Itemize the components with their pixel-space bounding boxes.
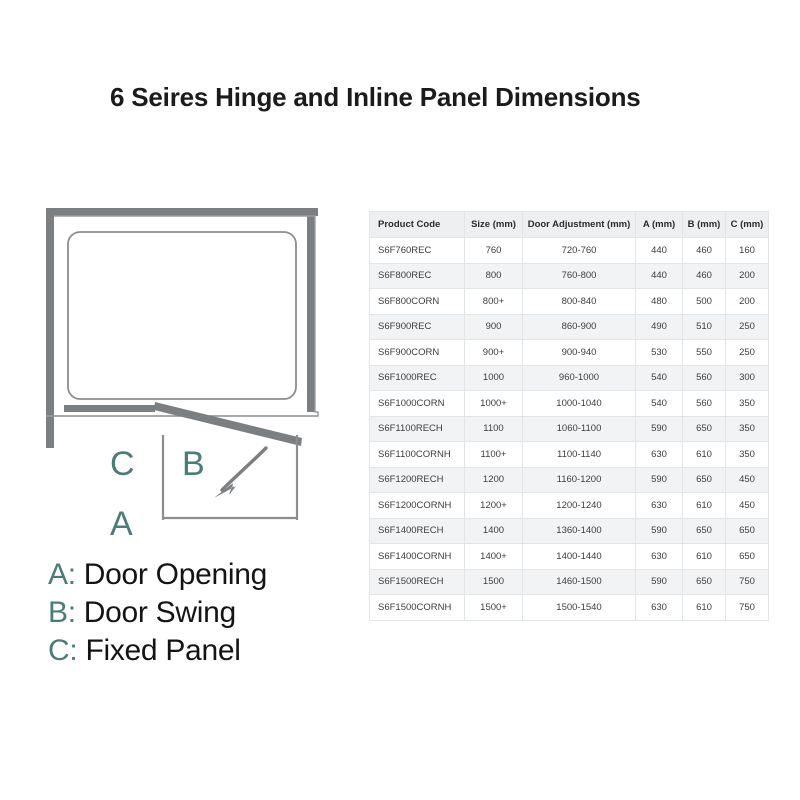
cell-value: 800-840 [523,289,636,315]
cell-value: 460 [683,238,726,264]
table-row: S6F900REC900860-900490510250 [370,314,769,340]
cell-value: 630 [636,442,683,468]
cell-value: 1000 [465,365,523,391]
cell-value: 760-800 [523,263,636,289]
cell-value: 450 [726,493,769,519]
column-header-b: B (mm) [683,212,726,238]
cell-value: 540 [636,365,683,391]
cell-value: 550 [683,340,726,366]
cell-value: 200 [726,263,769,289]
enclosure-right-frame-bar [307,216,315,412]
cell-value: 1460-1500 [523,569,636,595]
cell-value: 1400+ [465,544,523,570]
cell-value: 650 [726,544,769,570]
dimensions-table-container: Product Code Size (mm) Door Adjustment (… [369,211,768,621]
table-row: S6F1000REC1000960-1000540560300 [370,365,769,391]
cell-product-code: S6F1200RECH [370,467,465,493]
table-row: S6F1500RECH15001460-1500590650750 [370,569,769,595]
column-header-size: Size (mm) [465,212,523,238]
cell-value: 560 [683,391,726,417]
cell-value: 490 [636,314,683,340]
cell-value: 1200+ [465,493,523,519]
table-row: S6F800CORN800+800-840480500200 [370,289,769,315]
cell-product-code: S6F1100CORNH [370,442,465,468]
cell-value: 1500 [465,569,523,595]
column-header-c: C (mm) [726,212,769,238]
cell-value: 540 [636,391,683,417]
column-header-product-code: Product Code [370,212,465,238]
cell-product-code: S6F1500RECH [370,569,465,595]
cell-product-code: S6F1000REC [370,365,465,391]
table-row: S6F1200CORNH1200+1200-1240630610450 [370,493,769,519]
enclosure-top-frame-bar [46,208,318,216]
cell-value: 300 [726,365,769,391]
legend-label-c: Fixed Panel [85,634,240,667]
enclosure-left-frame-bar [46,208,54,448]
cell-value: 590 [636,518,683,544]
table-row: S6F1400CORNH1400+1400-1440630610650 [370,544,769,570]
cell-product-code: S6F1500CORNH [370,595,465,621]
cell-value: 460 [683,263,726,289]
shower-enclosure-diagram: C B A [30,190,350,550]
cell-value: 250 [726,340,769,366]
cell-value: 440 [636,238,683,264]
cell-value: 720-760 [523,238,636,264]
table-header-row: Product Code Size (mm) Door Adjustment (… [370,212,769,238]
cell-value: 650 [683,416,726,442]
cell-value: 800+ [465,289,523,315]
legend-key-c: C: [48,634,77,667]
cell-product-code: S6F1200CORNH [370,493,465,519]
cell-value: 1160-1200 [523,467,636,493]
table-row: S6F1400RECH14001360-1400590650650 [370,518,769,544]
table-row: S6F1500CORNH1500+1500-1540630610750 [370,595,769,621]
fixed-panel-bar [64,405,155,412]
cell-value: 630 [636,493,683,519]
cell-value: 650 [726,518,769,544]
marker-c-fixed-panel: C [110,445,135,483]
cell-value: 1400-1440 [523,544,636,570]
table-row: S6F900CORN900+900-940530550250 [370,340,769,366]
cell-value: 1400 [465,518,523,544]
legend-item-c: C: Fixed Panel [48,632,348,670]
legend-item-a: A: Door Opening [48,556,348,594]
cell-value: 1360-1400 [523,518,636,544]
cell-product-code: S6F900REC [370,314,465,340]
cell-value: 1100-1140 [523,442,636,468]
cell-value: 650 [683,467,726,493]
table-row: S6F1100CORNH1100+1100-1140630610350 [370,442,769,468]
cell-value: 900 [465,314,523,340]
cell-value: 960-1000 [523,365,636,391]
cell-value: 750 [726,569,769,595]
cell-value: 1500-1540 [523,595,636,621]
table-row: S6F1000CORN1000+1000-1040540560350 [370,391,769,417]
cell-value: 760 [465,238,523,264]
cell-value: 510 [683,314,726,340]
cell-value: 610 [683,595,726,621]
cell-value: 1100+ [465,442,523,468]
legend-label-a: Door Opening [84,558,267,591]
cell-value: 800 [465,263,523,289]
cell-value: 1200 [465,467,523,493]
page-title: 6 Seires Hinge and Inline Panel Dimensio… [110,82,730,113]
cell-value: 860-900 [523,314,636,340]
door-swing-direction-arrow [222,448,266,490]
cell-value: 590 [636,467,683,493]
cell-value: 530 [636,340,683,366]
cell-product-code: S6F800REC [370,263,465,289]
table-row: S6F1200RECH12001160-1200590650450 [370,467,769,493]
cell-value: 590 [636,416,683,442]
cell-value: 560 [683,365,726,391]
cell-value: 1000+ [465,391,523,417]
swinging-door-leaf [154,402,302,446]
legend: A: Door Opening B: Door Swing C: Fixed P… [48,556,348,670]
cell-value: 160 [726,238,769,264]
hinge-inline-panel-dimensions-table: Product Code Size (mm) Door Adjustment (… [369,211,769,621]
cell-value: 590 [636,569,683,595]
cell-value: 900+ [465,340,523,366]
cell-value: 500 [683,289,726,315]
cell-value: 480 [636,289,683,315]
marker-b-door-swing: B [182,445,205,483]
cell-product-code: S6F1000CORN [370,391,465,417]
cell-value: 650 [683,569,726,595]
cell-value: 650 [683,518,726,544]
column-header-a: A (mm) [636,212,683,238]
cell-value: 350 [726,391,769,417]
cell-value: 630 [636,544,683,570]
cell-value: 440 [636,263,683,289]
glass-panel-rounded-rect [68,232,296,399]
cell-value: 610 [683,544,726,570]
cell-value: 610 [683,442,726,468]
table-row: S6F1100RECH11001060-1100590650350 [370,416,769,442]
cell-value: 630 [636,595,683,621]
cell-product-code: S6F1400RECH [370,518,465,544]
cell-value: 1200-1240 [523,493,636,519]
legend-key-b: B: [48,596,76,629]
cell-product-code: S6F1100RECH [370,416,465,442]
cell-value: 1000-1040 [523,391,636,417]
cell-value: 200 [726,289,769,315]
legend-key-a: A: [48,558,76,591]
cell-value: 1100 [465,416,523,442]
cell-value: 350 [726,442,769,468]
cell-value: 610 [683,493,726,519]
cell-value: 350 [726,416,769,442]
legend-item-b: B: Door Swing [48,594,348,632]
table-row: S6F760REC760720-760440460160 [370,238,769,264]
table-body: S6F760REC760720-760440460160S6F800REC800… [370,238,769,621]
column-header-door-adjustment: Door Adjustment (mm) [523,212,636,238]
cell-value: 450 [726,467,769,493]
cell-value: 1500+ [465,595,523,621]
cell-product-code: S6F760REC [370,238,465,264]
marker-a-door-opening: A [110,505,133,543]
cell-product-code: S6F800CORN [370,289,465,315]
cell-value: 250 [726,314,769,340]
cell-value: 1060-1100 [523,416,636,442]
cell-value: 750 [726,595,769,621]
table-row: S6F800REC800760-800440460200 [370,263,769,289]
cell-value: 900-940 [523,340,636,366]
legend-label-b: Door Swing [84,596,236,629]
cell-product-code: S6F900CORN [370,340,465,366]
cell-product-code: S6F1400CORNH [370,544,465,570]
